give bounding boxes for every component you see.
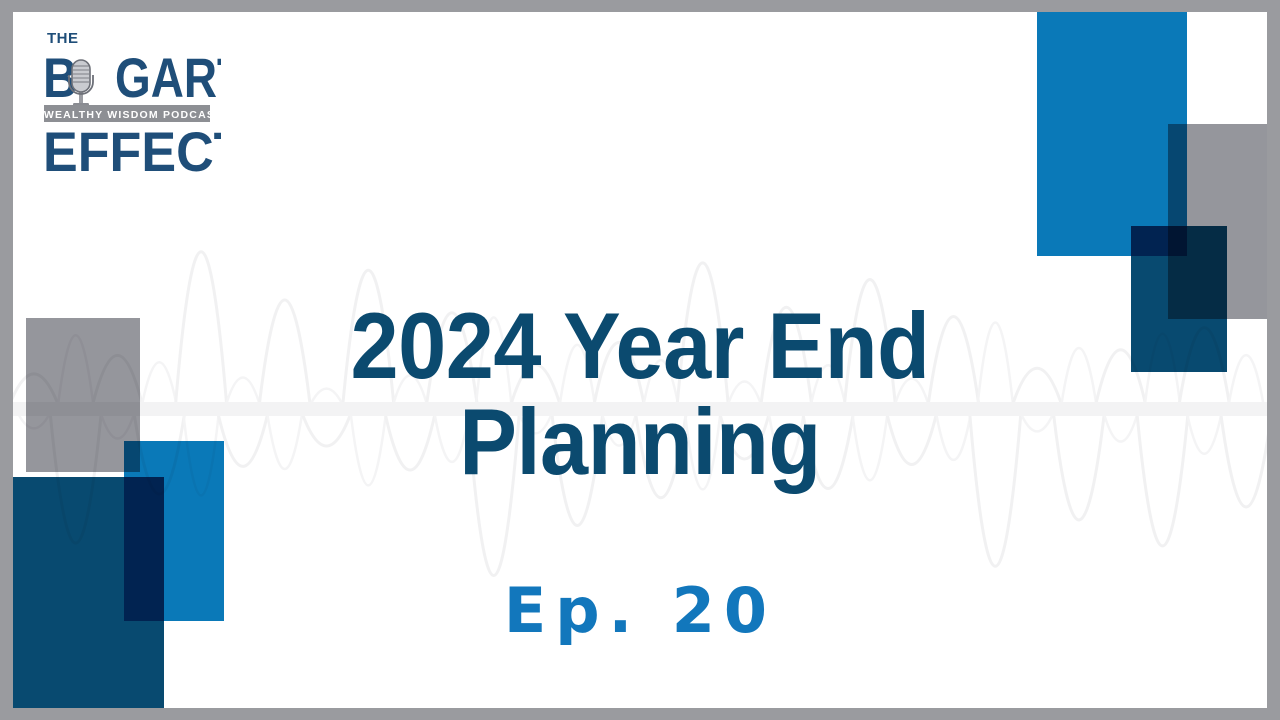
podcast-episode-cover: THE B GART A WEALTHY WISDOM <box>0 0 1280 720</box>
logo-line-top: THE <box>47 30 79 47</box>
logo-line-bottom: EFFECT <box>43 121 221 173</box>
cover-canvas: THE B GART A WEALTHY WISDOM <box>13 12 1267 708</box>
deco-rect-gray-bottom-left <box>26 318 140 472</box>
deco-rect-navy-bottom-left <box>13 477 164 708</box>
bogart-effect-podcast-logo: THE B GART A WEALTHY WISDOM <box>33 25 221 173</box>
deco-rect-bright-blue-top-right <box>1037 12 1187 256</box>
logo-line-main-right: GART <box>115 47 221 109</box>
page-title: 2024 Year End Planning <box>63 298 1217 490</box>
logo-tagline: A WEALTHY WISDOM PODCAST <box>33 109 221 121</box>
deco-rect-navy-top-right <box>1131 226 1227 372</box>
